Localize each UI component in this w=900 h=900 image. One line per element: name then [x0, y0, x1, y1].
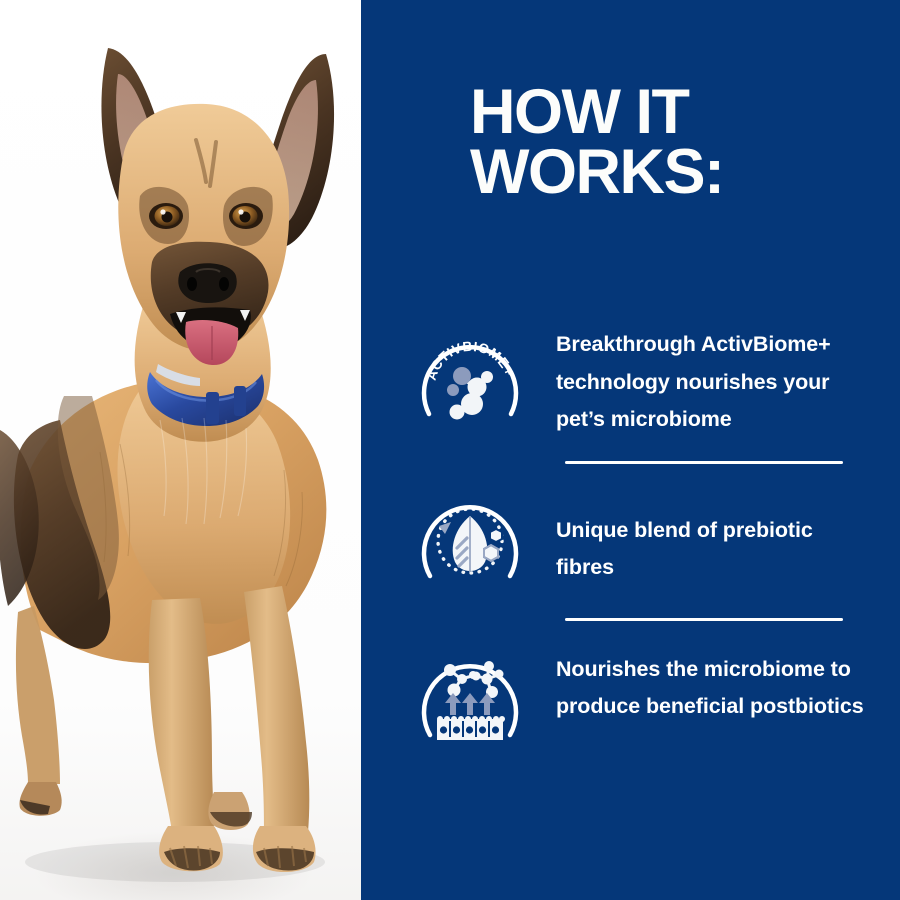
dog-eye-left: [149, 203, 183, 229]
prebiotic-fibre-leaf-icon: [415, 486, 525, 596]
molecule-cluster: [447, 367, 493, 420]
page-title: HOW IT WORKS:: [470, 82, 870, 203]
feature-item-postbiotics: Nourishes the microbiome to produce bene…: [361, 643, 900, 753]
german-shepherd-dog-image: [0, 0, 361, 900]
feature-item-prebiotic-fibres: Unique blend of prebiotic fibres: [361, 486, 900, 596]
feature-text-postbiotics: Nourishes the microbiome to produce bene…: [556, 643, 868, 726]
dog-illustration: [0, 0, 361, 900]
feature-text-prebiotic-fibres: Unique blend of prebiotic fibres: [556, 486, 868, 587]
headline-line-2: WORKS:: [470, 142, 870, 202]
feature-list: ACTIVBIOME+: [361, 322, 900, 753]
info-panel: HOW IT WORKS: ACTIVBIOME+: [361, 0, 900, 900]
gut-microbiome-postbiotics-icon: [415, 643, 525, 753]
feature-divider-1: [565, 461, 843, 464]
absorption-arrows: [445, 693, 495, 715]
feature-text-activbiome: Breakthrough ActivBiome+ technology nour…: [556, 322, 868, 439]
dog-eye-right: [229, 203, 263, 229]
activbiome-plus-badge-icon: ACTIVBIOME+: [415, 326, 525, 436]
intestinal-cells: [437, 716, 505, 740]
feature-divider-2: [565, 618, 843, 621]
dog-front-leg-right: [244, 586, 309, 832]
how-it-works-poster: HOW IT WORKS: ACTIVBIOME+: [0, 0, 900, 900]
dog-front-leg-left: [149, 598, 214, 832]
dog-photo-panel: [0, 0, 361, 900]
headline-line-1: HOW IT: [470, 82, 870, 142]
feature-item-activbiome: ACTIVBIOME+: [361, 322, 900, 439]
